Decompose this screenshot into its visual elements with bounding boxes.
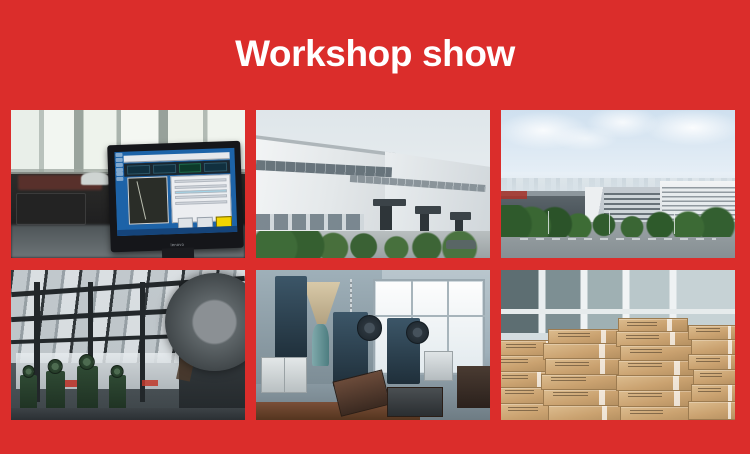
bench-panel (16, 193, 86, 226)
carton (548, 405, 625, 420)
carton (543, 389, 623, 406)
carton (693, 369, 735, 385)
monitor-stand (162, 247, 195, 258)
entrance-door (380, 206, 392, 230)
gallery-tile-industrial-park[interactable] (501, 110, 735, 258)
work-bench (457, 366, 490, 408)
belt-pulley (357, 315, 383, 341)
shop-floor (11, 408, 245, 420)
monitor-screen (114, 148, 237, 235)
carton (616, 375, 698, 391)
workshop-show-banner: Workshop show (0, 0, 750, 454)
entrance-canopy (373, 199, 406, 206)
carton (688, 325, 735, 340)
street-lamp (609, 211, 610, 235)
gallery-tile-cnc-monitor[interactable]: lenovo (11, 110, 245, 258)
carton (543, 343, 623, 359)
control-cabinet (424, 351, 452, 381)
carton (616, 331, 693, 346)
street-lamp (548, 211, 549, 235)
workshop-image-gallery: lenovo (11, 110, 739, 420)
carton (548, 329, 623, 344)
carton (688, 354, 735, 370)
gallery-tile-workshop-floor[interactable] (11, 270, 245, 420)
wall-banner (142, 380, 158, 386)
page-title: Workshop show (0, 30, 750, 78)
press-frame (275, 276, 308, 360)
monitor-brand-label: lenovo (171, 242, 185, 247)
bench-roller (81, 172, 109, 185)
control-cabinet (261, 357, 308, 393)
carton (691, 339, 735, 355)
carton (620, 345, 695, 360)
gallery-tile-packed-cartons[interactable] (501, 270, 735, 420)
air-tank (312, 324, 328, 366)
carton (691, 384, 735, 401)
bright-background-wall (16, 353, 189, 389)
building-wing (385, 151, 490, 243)
toolpath-graph-panel (127, 176, 169, 224)
carton (620, 406, 697, 420)
gallery-tile-factory-exterior[interactable] (256, 110, 490, 258)
carton (545, 358, 622, 374)
entrance-canopy (450, 212, 471, 219)
carton (618, 390, 698, 407)
carton (541, 374, 623, 390)
carton (618, 360, 698, 376)
steel-plate (387, 387, 443, 417)
punch-press (77, 366, 98, 414)
window-rail (373, 315, 485, 317)
entrance-canopy (415, 206, 441, 213)
carton (618, 318, 688, 332)
gallery-tile-press-area[interactable] (256, 270, 490, 420)
clouds (501, 110, 735, 178)
monitor: lenovo (107, 140, 244, 251)
parked-car (446, 240, 476, 249)
lower-window-band (256, 214, 364, 230)
street-lamp (674, 211, 675, 235)
carton-stack (501, 312, 735, 420)
red-structure (501, 191, 527, 198)
carton (688, 401, 735, 420)
tree-line (501, 205, 735, 238)
